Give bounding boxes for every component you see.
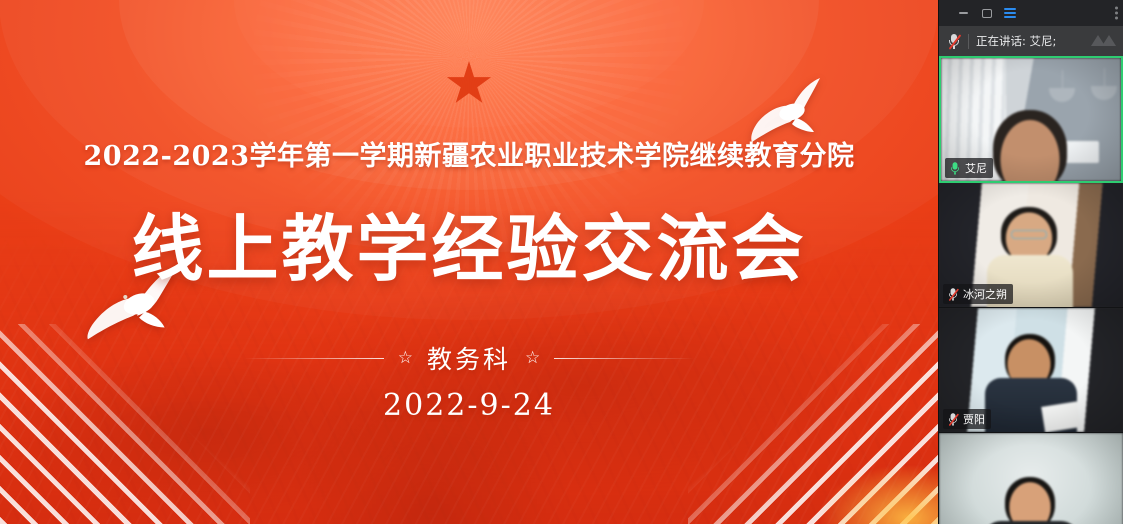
maximize-button[interactable] [980,7,993,20]
shuffle-chevrons-icon [1089,33,1119,49]
minimize-button[interactable] [957,7,970,20]
more-options-button[interactable] [1115,7,1118,20]
layout-stack-icon [1004,8,1016,18]
slide-date: 2022-9-24 [0,388,938,423]
window-controls [957,7,1016,20]
participant-tile[interactable]: 艾尼 [939,56,1123,183]
slide-department: 教务科 [427,340,511,376]
slide-department-row: ☆ 教务科 ☆ [0,340,938,376]
active-speaker-bar: 正在讲话: 艾尼; [939,26,1123,56]
minimize-icon [959,12,968,14]
kebab-dot [1115,12,1118,15]
star-outline-icon-right: ☆ [525,350,540,367]
participant-name-chip: 贾阳 [943,409,991,429]
meeting-screen-share-window: 2022-2023学年第一学期新疆农业职业技术学院继续教育分院 线上教学经验交流… [0,0,1123,524]
maximize-icon [982,9,992,18]
participant-name: 艾尼 [965,160,987,176]
shared-slide-content: 2022-2023学年第一学期新疆农业职业技术学院继续教育分院 线上教学经验交流… [0,0,938,524]
kebab-dot [1115,7,1118,10]
slide-main-title: 线上教学经验交流会 [0,190,938,295]
divider [968,34,969,49]
microphone-muted-icon [947,287,958,300]
kebab-dot [1115,17,1118,20]
microphone-muted-icon [947,33,961,49]
microphone-muted-icon [947,412,958,425]
rule-left [244,358,384,359]
participants-sidebar: 正在讲话: 艾尼; [938,0,1123,524]
participant-tile[interactable]: 贾阳 [939,308,1123,433]
rule-right [554,358,694,359]
layout-button[interactable] [1003,7,1016,20]
participant-tiles: 艾尼 冰河之朔 [939,56,1123,524]
participant-name-chip: 冰河之朔 [943,284,1013,304]
slide-subtitle-top: 2022-2023学年第一学期新疆农业职业技术学院继续教育分院 [0,134,938,173]
participant-name-chip: 艾尼 [945,158,993,178]
participant-name: 冰河之朔 [963,286,1007,302]
star-outline-icon-left: ☆ [398,350,413,367]
participant-name: 贾阳 [963,411,985,427]
participant-tile[interactable]: 张浩峰 [939,433,1123,524]
window-titlebar [939,0,1123,26]
participant-tile[interactable]: 冰河之朔 [939,183,1123,308]
slide-text-block: 2022-2023学年第一学期新疆农业职业技术学院继续教育分院 线上教学经验交流… [0,0,938,524]
microphone-icon [949,161,960,174]
